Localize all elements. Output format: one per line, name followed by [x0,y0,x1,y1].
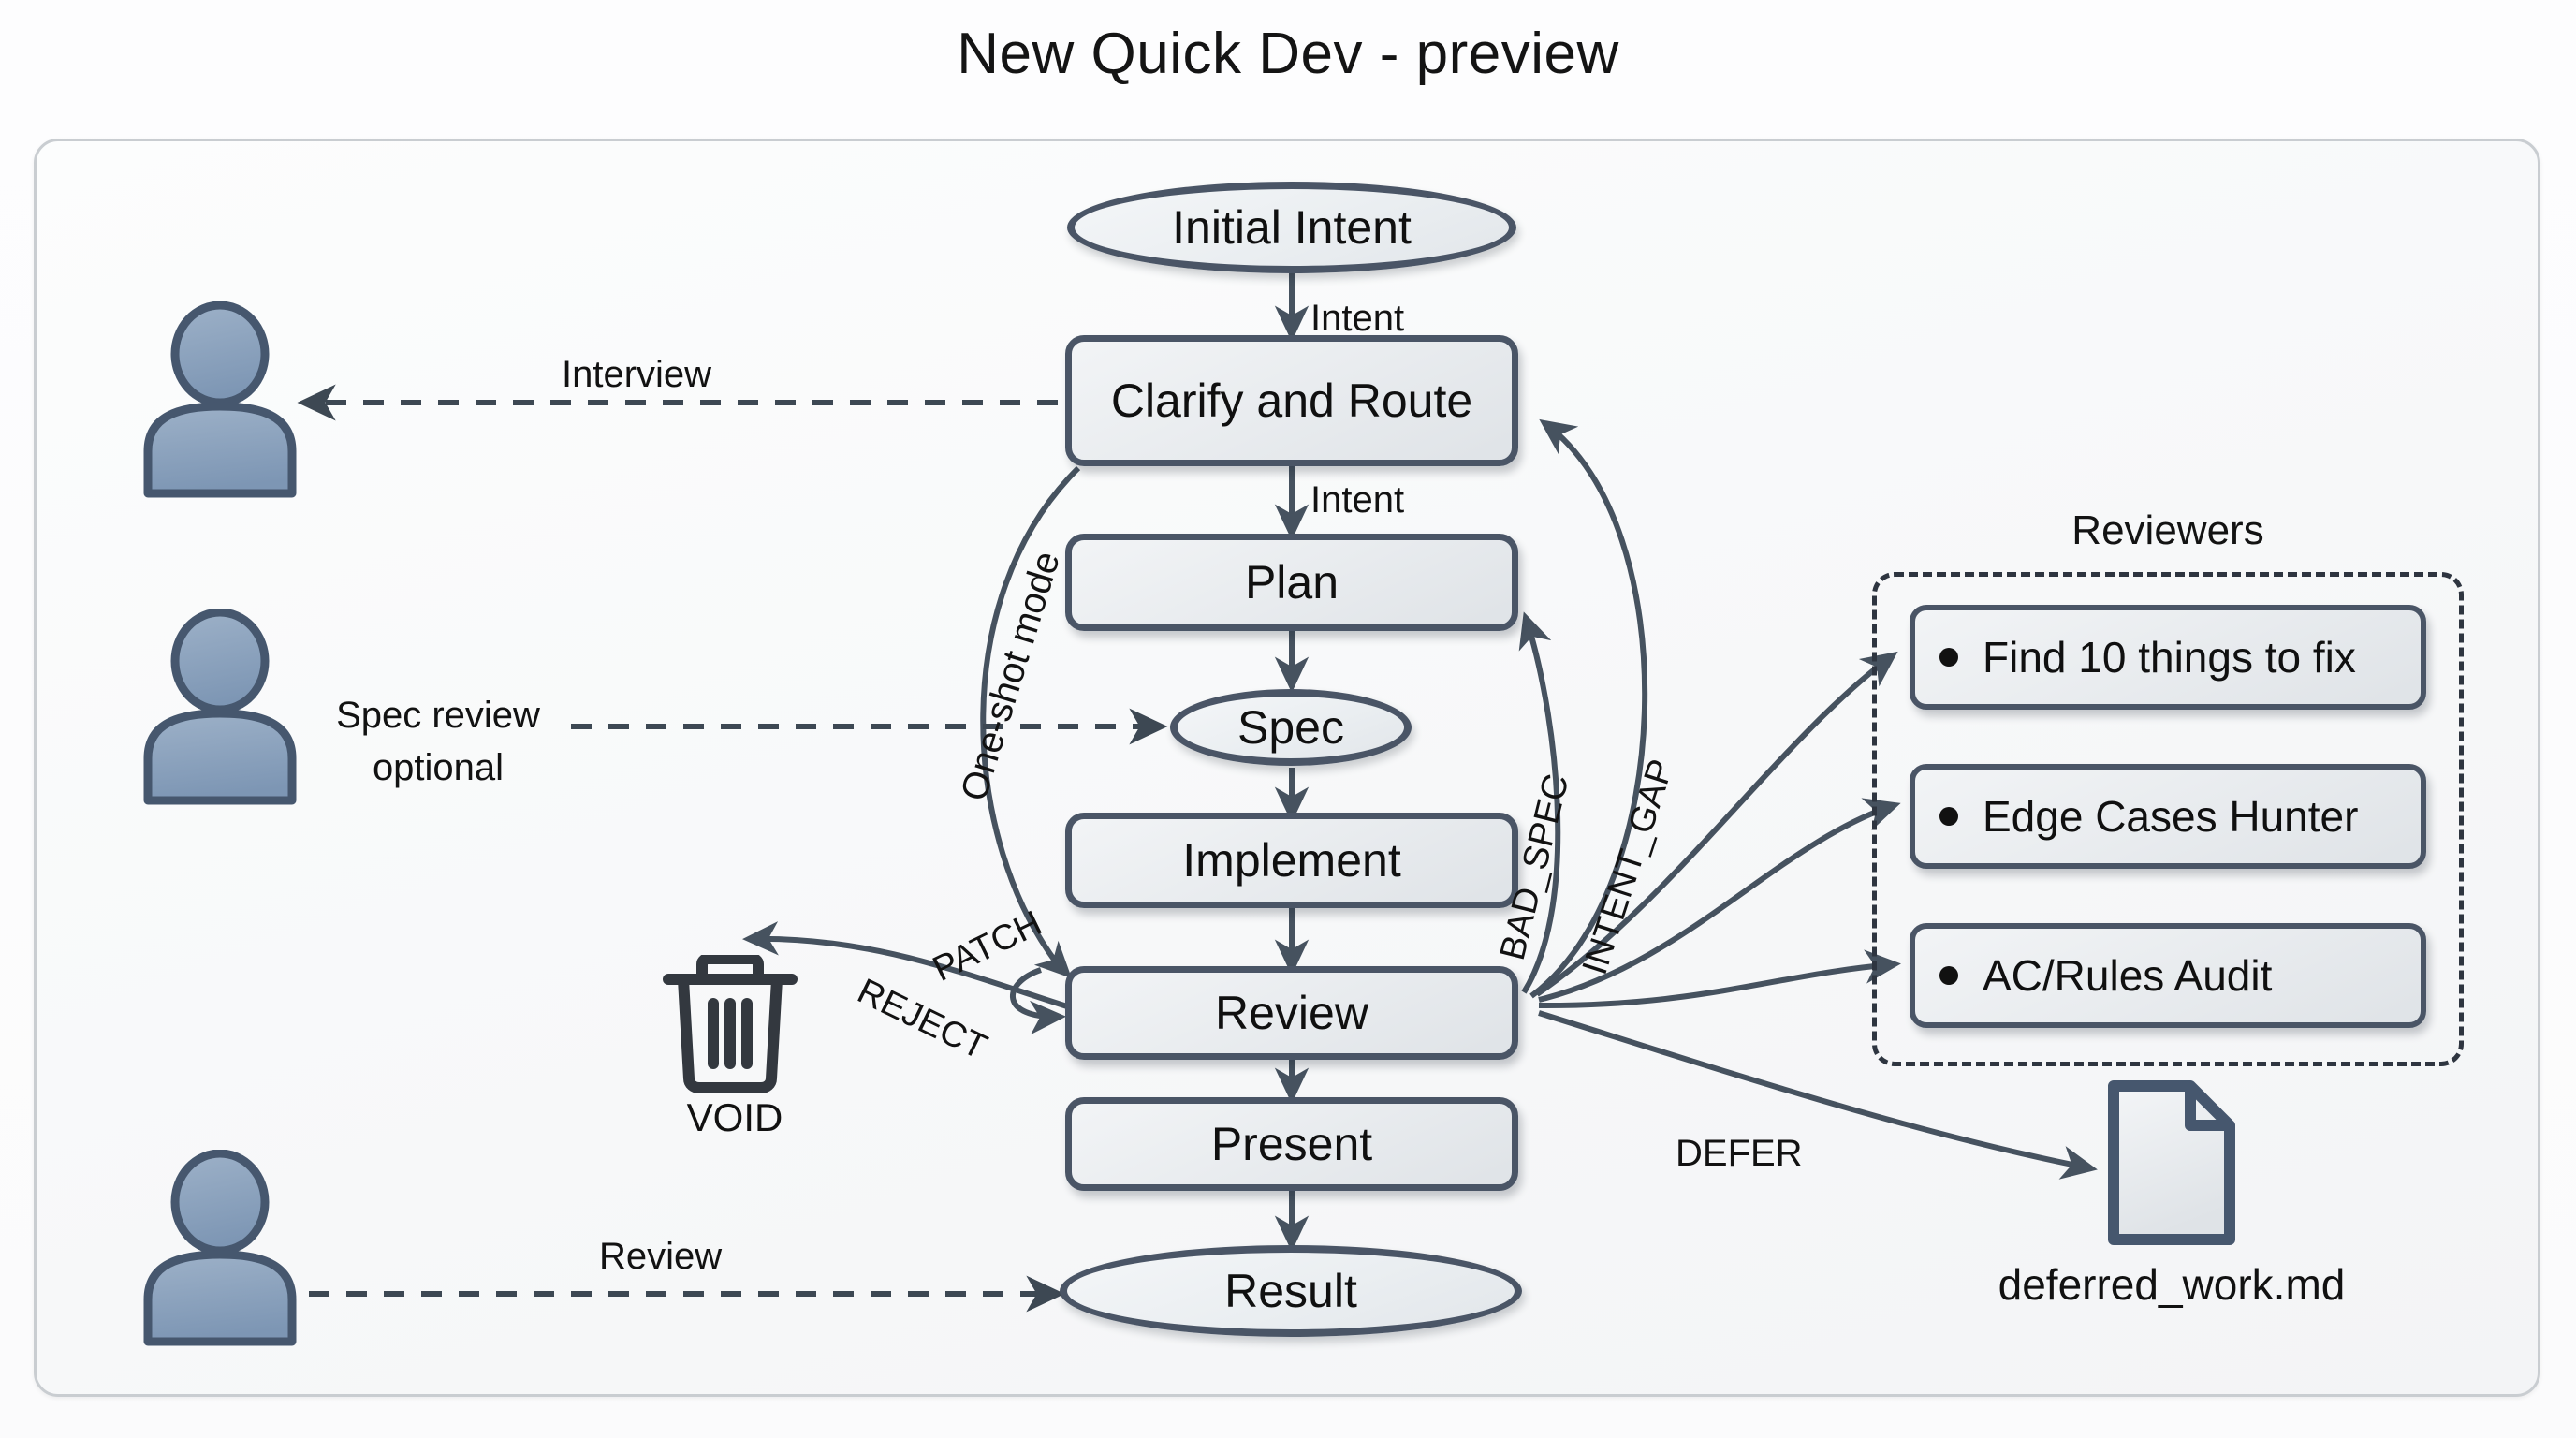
node-label: Review [1215,990,1368,1036]
artifact-void[interactable] [655,955,805,1100]
trash-icon [655,955,805,1095]
person-icon [131,301,309,498]
reviewer-label: Edge Cases Hunter [1983,795,2358,838]
node-result[interactable]: Result [1060,1245,1522,1337]
reviewer-card-find-10-things-to-fix[interactable]: Find 10 things to fix [1910,605,2426,710]
node-label: Spec [1237,704,1344,751]
file-document-icon [2104,1077,2239,1249]
node-label: Initial Intent [1172,204,1412,251]
edge-label-review-actor: Review [599,1236,722,1278]
artifact-deferred-work-file[interactable] [2104,1077,2239,1254]
node-spec[interactable]: Spec [1170,689,1412,766]
edge-label-spec-review-line2: optional [307,747,569,789]
reviewer-card-ac-rules-audit[interactable]: AC/Rules Audit [1910,923,2426,1028]
node-label: Plan [1245,559,1339,606]
node-implement[interactable]: Implement [1065,813,1518,908]
person-icon [131,1150,309,1346]
node-clarify-and-route[interactable]: Clarify and Route [1065,335,1518,466]
edge-label-interview: Interview [562,354,711,396]
edge-label-defer: DEFER [1676,1133,1803,1175]
node-review[interactable]: Review [1065,966,1518,1060]
node-label: Implement [1182,837,1400,884]
actor-reviewer[interactable] [131,1150,309,1351]
node-label: Present [1211,1121,1372,1167]
actor-interview[interactable] [131,301,309,503]
diagram-canvas: New Quick Dev - preview [0,0,2576,1438]
bullet-icon [1939,648,1958,667]
person-icon [131,609,309,805]
node-label: Clarify and Route [1111,377,1472,424]
actor-spec-reviewer[interactable] [131,609,309,810]
artifact-void-label: VOID [618,1095,852,1140]
reviewers-group-title: Reviewers [1872,507,2464,554]
node-label: Result [1224,1268,1357,1314]
edge-label-intent-2: Intent [1310,479,1404,521]
reviewer-label: AC/Rules Audit [1983,954,2272,997]
bullet-icon [1939,807,1958,826]
node-present[interactable]: Present [1065,1097,1518,1191]
node-plan[interactable]: Plan [1065,534,1518,631]
node-initial-intent[interactable]: Initial Intent [1067,182,1516,273]
reviewer-card-edge-cases-hunter[interactable]: Edge Cases Hunter [1910,764,2426,869]
reviewer-label: Find 10 things to fix [1983,636,2356,679]
artifact-deferred-work-label: deferred_work.md [1867,1259,2476,1310]
edge-label-intent-1: Intent [1310,298,1404,340]
edge-label-spec-review-line1: Spec review [307,695,569,737]
bullet-icon [1939,966,1958,985]
